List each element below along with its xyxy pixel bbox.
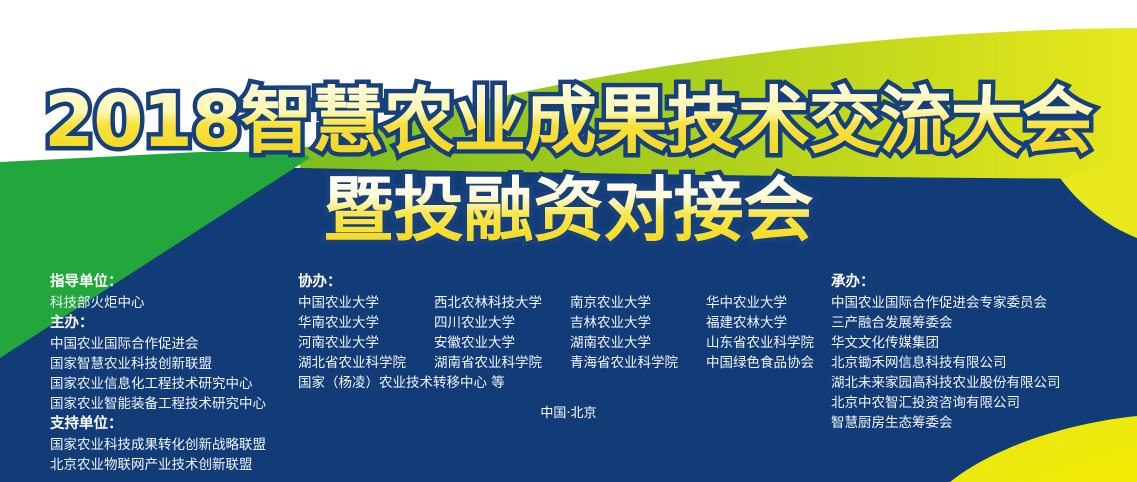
co-organizer-item: 华南农业大学 [298,313,428,333]
credits-layer: 指导单位： 科技部火炬中心 主办： 中国农业国际合作促进会 国家智慧农业科技创新… [0,0,1137,482]
co-organizer-item: 湖南农业大学 [570,333,700,353]
co-organizer-item: 河南农业大学 [298,333,428,353]
co-organizer-item: 安徽农业大学 [434,333,564,353]
co-organizer-item: 中国绿色食品协会 [706,353,814,373]
organizer-item: 三产融合发展筹委会 [831,313,1061,333]
co-organizer-item: 南京农业大学 [570,293,700,313]
co-organizer-item: 湖北省农业科学院 [298,353,428,373]
co-organizer-grid: 中国农业大学 西北农林科技大学 南京农业大学 华中农业大学 华南农业大学 四川农… [298,293,814,373]
conference-poster-banner: 2018智慧农业成果技术交流大会 2018智慧农业成果技术交流大会 暨投融资对接… [0,0,1137,482]
support-unit-item: 北京农业物联网产业技术创新联盟 [50,455,266,475]
guidance-unit-header: 指导单位： [50,272,266,293]
organizer-header: 承办： [831,272,1061,293]
co-organizer-item: 四川农业大学 [434,313,564,333]
host-header: 主办： [50,313,266,334]
support-unit-item: 国家农业科技成果转化创新战略联盟 [50,435,266,455]
guidance-unit-item: 科技部火炬中心 [50,293,266,313]
organizer-item: 华文文化传媒集团 [831,333,1061,353]
co-organizer-item: 湖南省农业科学院 [434,353,564,373]
co-organizer-item: 福建农林大学 [706,313,814,333]
co-organizer-item: 吉林农业大学 [570,313,700,333]
co-organizer-item: 山东省农业科学院 [706,333,814,353]
co-organizer-item: 华中农业大学 [706,293,814,313]
organizer-item: 北京锄禾网信息科技有限公司 [831,353,1061,373]
co-organizer-item: 青海省农业科学院 [570,353,700,373]
co-organizer-item: 中国农业大学 [298,293,428,313]
organizer-item: 湖北未来家园高科技农业股份有限公司 [831,373,1061,393]
host-item: 国家智慧农业科技创新联盟 [50,354,266,374]
organizer-item: 中国农业国际合作促进会专家委员会 [831,293,1061,313]
co-organizer-last-item: 国家（杨凌）农业技术转移中心 等 [298,373,814,393]
host-item: 中国农业国际合作促进会 [50,334,266,354]
event-location: 中国·北京 [0,405,1137,423]
credits-column-left: 指导单位： 科技部火炬中心 主办： 中国农业国际合作促进会 国家智慧农业科技创新… [50,272,266,475]
credits-column-middle: 协办： 中国农业大学 西北农林科技大学 南京农业大学 华中农业大学 华南农业大学… [298,272,814,393]
host-item: 国家农业信息化工程技术研究中心 [50,374,266,394]
co-organizer-item: 西北农林科技大学 [434,293,564,313]
co-organizer-header: 协办： [298,272,814,293]
